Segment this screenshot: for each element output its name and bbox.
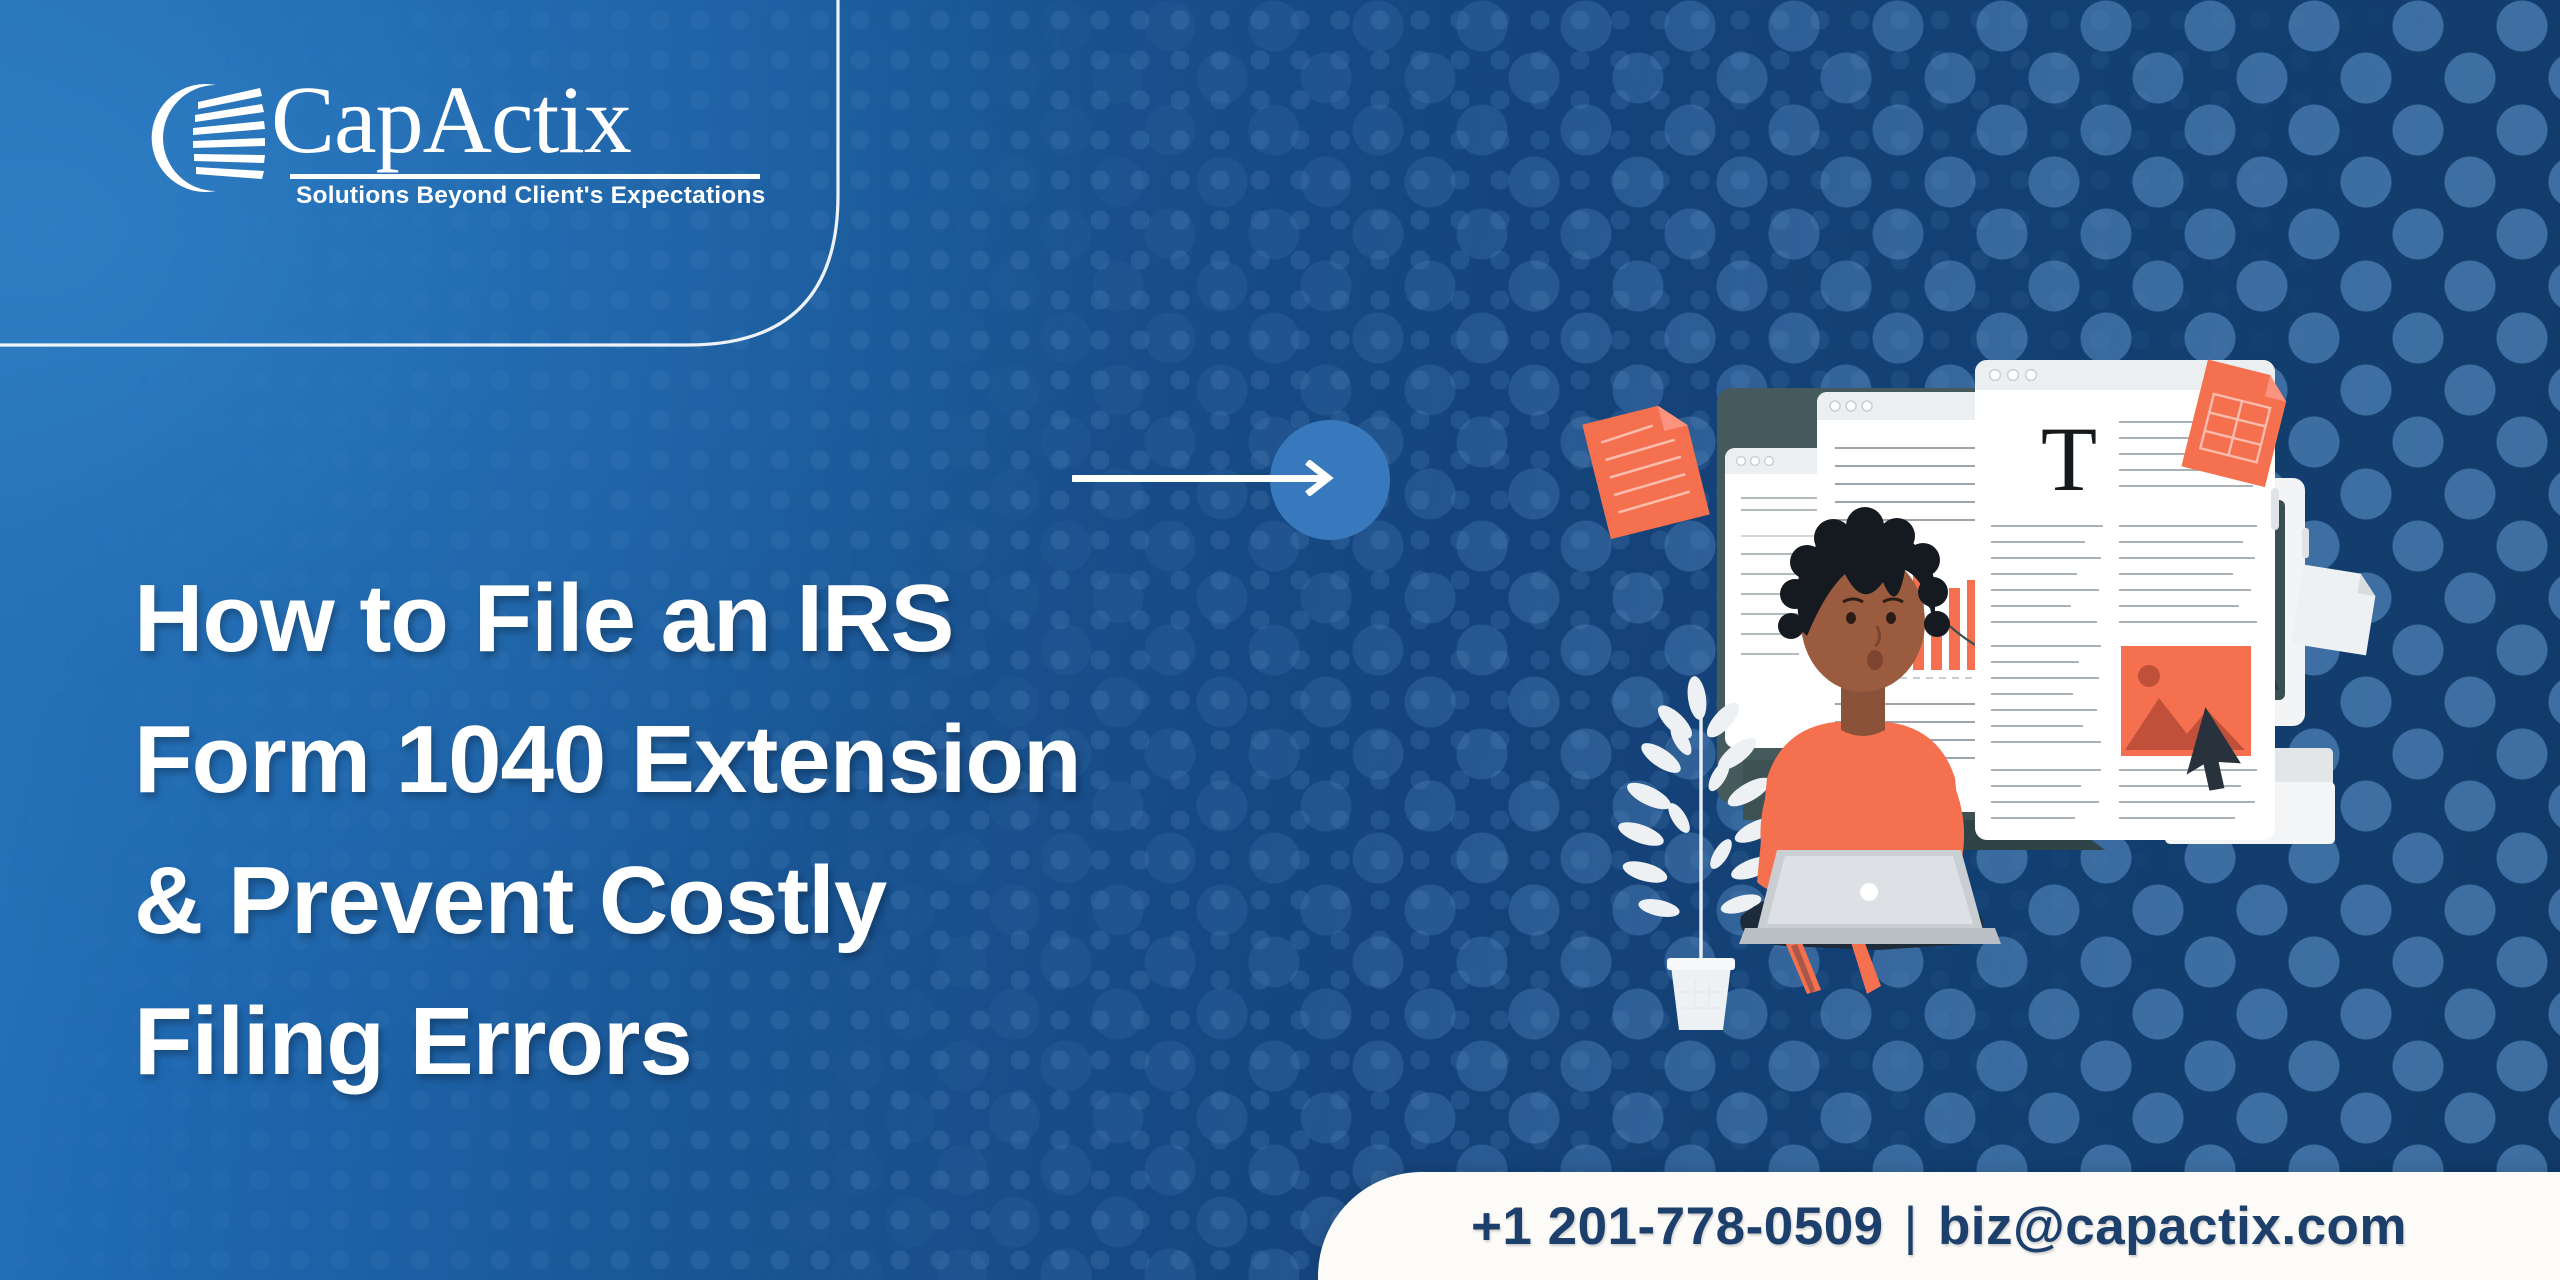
white-document-folded (2291, 565, 2379, 656)
headline-line-1: How to File an IRS (134, 548, 1414, 689)
email-address[interactable]: biz@capactix.com (1938, 1196, 2407, 1257)
arrow-accent-group (1060, 420, 1390, 540)
brand-logo[interactable]: CapActix Solutions Beyond Client's Expec… (138, 82, 758, 197)
headline-line-2: Form 1040 Extension (134, 689, 1414, 830)
fan-arc-logo-icon (138, 82, 266, 194)
phone-number[interactable]: +1 201-778-0509 (1471, 1196, 1884, 1257)
banner-canvas: CapActix Solutions Beyond Client's Expec… (0, 0, 2560, 1280)
brand-tagline: Solutions Beyond Client's Expectations (296, 182, 765, 210)
arrow-right-icon (1300, 460, 1336, 496)
letter-T-glyph: T (2041, 408, 2097, 510)
contact-bar: +1 201-778-0509 | biz@capactix.com (1318, 1172, 2560, 1280)
brand-wordmark: CapActix (271, 72, 631, 168)
arrow-shaft (1072, 475, 1322, 482)
headline-seg-bold: IRS (796, 565, 953, 672)
hero-illustration: T (1545, 330, 2445, 1030)
contact-separator: | (1904, 1196, 1918, 1257)
headline-seg: How to File an (134, 565, 796, 672)
headline-line-3: & Prevent Costly (134, 830, 1414, 971)
orange-document-lined (1582, 400, 1710, 539)
image-placeholder-orange (2121, 646, 2251, 756)
headline-line-4: Filing Errors (134, 971, 1414, 1112)
page-title: How to File an IRS Form 1040 Extension &… (134, 548, 1414, 1112)
contact-details: +1 201-778-0509 | biz@capactix.com (1471, 1196, 2407, 1257)
logo-divider-rule (290, 174, 760, 179)
